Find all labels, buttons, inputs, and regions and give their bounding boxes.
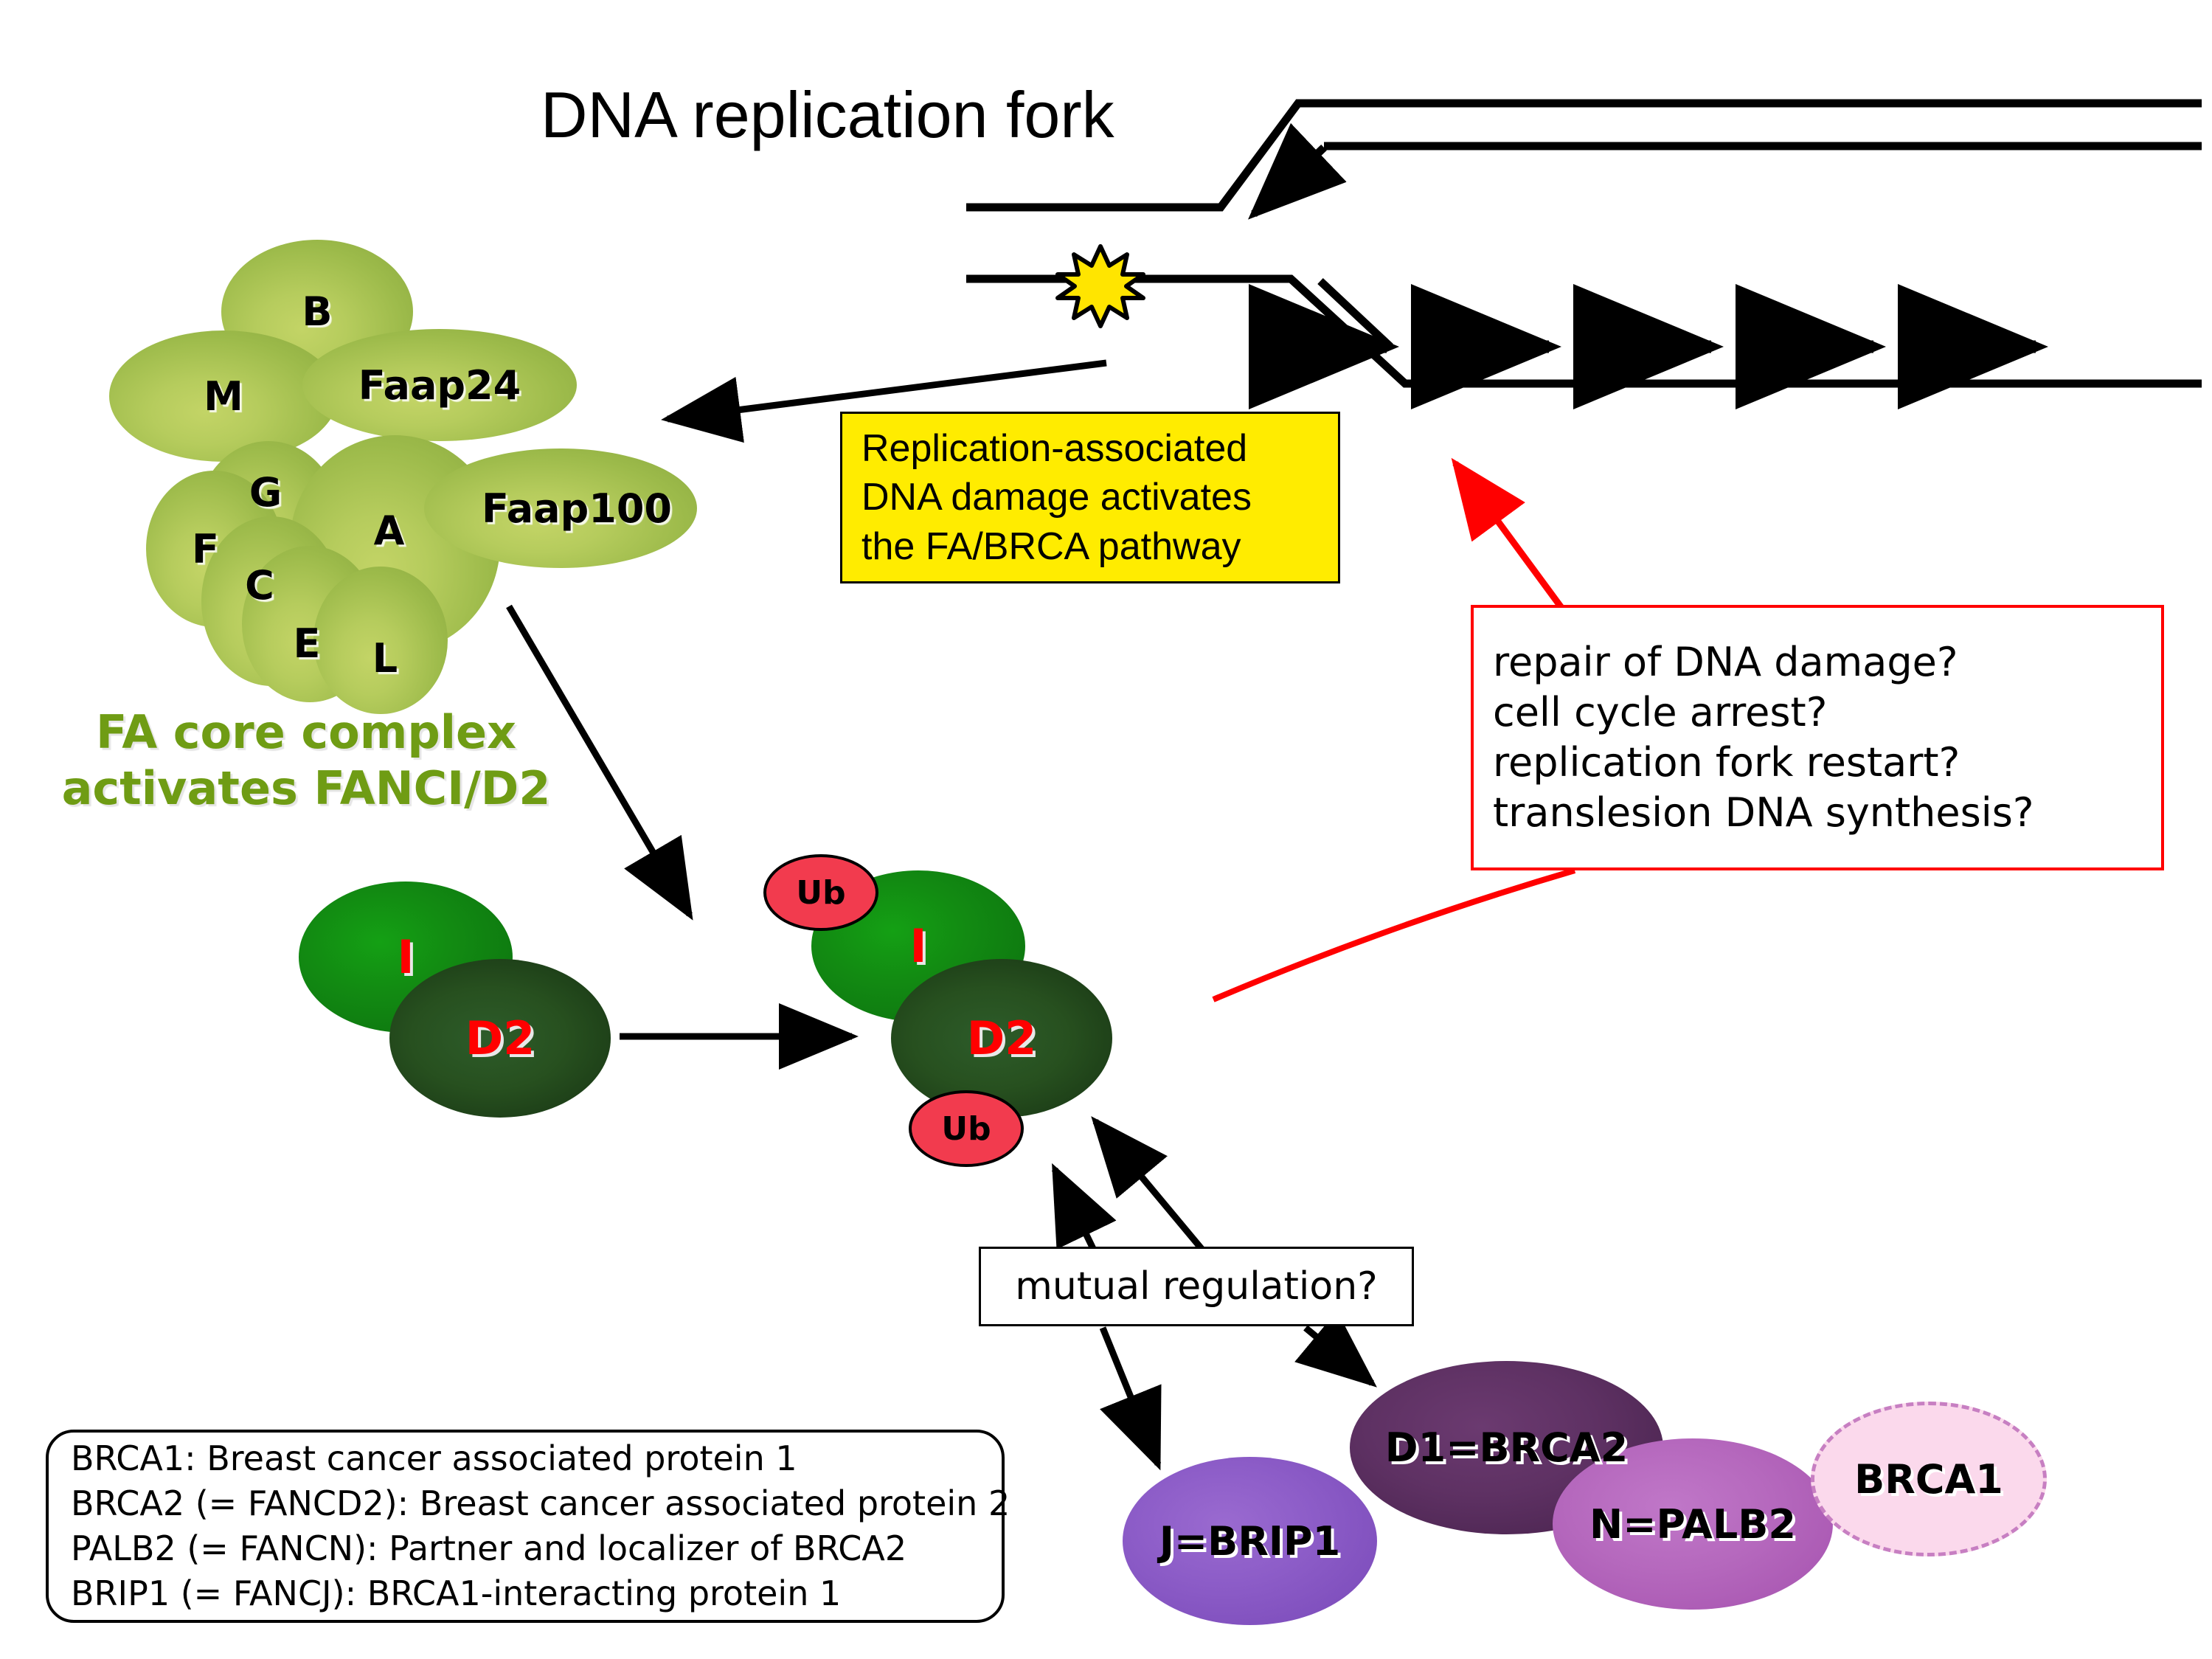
outcome-line-2: cell cycle arrest? [1493, 688, 2142, 738]
fork-to-core-arrow [668, 363, 1106, 419]
diagram-canvas: DNA replication fork B M Faap24 G F A Fa… [0, 0, 2212, 1659]
outcome-line-1: repair of DNA damage? [1493, 637, 2142, 688]
outcome-line-3: replication fork restart? [1493, 738, 2142, 788]
brca2-label: D1=BRCA2 [1385, 1424, 1628, 1471]
downstream-outcomes-note[interactable]: repair of DNA damage? cell cycle arrest?… [1471, 605, 2164, 870]
brip1-label: J=BRIP1 [1159, 1518, 1340, 1565]
outcome-line-4: translesion DNA synthesis? [1493, 788, 2142, 838]
core-subunit-fanc-l[interactable]: L [313, 567, 448, 714]
legend-line-1: BRCA1: Breast cancer associated protein … [71, 1436, 980, 1481]
core-subunit-faap24[interactable]: Faap24 [302, 329, 577, 441]
core-subunit-label: G [249, 469, 282, 516]
palb2-label: N=PALB2 [1589, 1501, 1796, 1548]
legend-line-4: BRIP1 (= FANCJ): BRCA1-interacting prote… [71, 1571, 980, 1616]
legend-box: BRCA1: Breast cancer associated protein … [46, 1430, 1005, 1623]
ubiquitin-label: Ub [941, 1110, 991, 1148]
mutual-regulation-label: mutual regulation? [1015, 1264, 1378, 1309]
brca1-label: BRCA1 [1854, 1456, 2003, 1503]
leading-strand-arrow [1254, 148, 1324, 214]
fancd2-label: D2 [465, 1011, 535, 1065]
brca1-ellipse[interactable]: BRCA1 [1811, 1402, 2047, 1556]
core-subunit-label: A [374, 508, 405, 554]
ubiquitin-tag-top[interactable]: Ub [763, 854, 878, 931]
note-line-2: DNA damage activates [861, 473, 1319, 522]
damage-star-icon [1058, 246, 1143, 326]
fanci-label: I [397, 930, 414, 984]
core-subunit-label: B [302, 288, 332, 335]
core-subunit-faap100[interactable]: Faap100 [424, 448, 697, 568]
replication-damage-note[interactable]: Replication-associated DNA damage activa… [840, 412, 1340, 583]
core-complex-caption: FA core complex activates FANCI/D2 [52, 704, 561, 816]
core-subunit-label: L [372, 635, 398, 682]
note-line-3: the FA/BRCA pathway [861, 522, 1319, 571]
core-subunit-label: C [245, 562, 274, 609]
legend-line-2: BRCA2 (= FANCD2): Breast cancer associat… [71, 1481, 980, 1526]
fancd2-label: D2 [967, 1011, 1037, 1065]
core-subunit-label: E [294, 620, 321, 667]
core-subunit-fanc-m[interactable]: M [109, 330, 338, 462]
ubiquitin-label: Ub [796, 874, 845, 912]
note-line-1: Replication-associated [861, 424, 1319, 473]
core-subunit-label: Faap100 [482, 485, 672, 532]
legend-line-3: PALB2 (= FANCN): Partner and localizer o… [71, 1526, 980, 1571]
core-subunit-label: Faap24 [358, 362, 521, 409]
core-caption-line-2: activates FANCI/D2 [62, 761, 551, 817]
core-subunit-label: M [204, 373, 243, 420]
red-note-to-id2-line [1213, 870, 1575, 1000]
mutual-regulation-note[interactable]: mutual regulation? [979, 1247, 1414, 1326]
page-title: DNA replication fork [541, 77, 1114, 153]
fancd2-ellipse-active[interactable]: D2 [891, 959, 1112, 1118]
ubiquitin-tag-bottom[interactable]: Ub [909, 1090, 1024, 1167]
fanci-label: I [909, 919, 926, 973]
core-subunit-label: F [192, 526, 219, 572]
core-caption-line-1: FA core complex [96, 704, 516, 761]
brip1-ellipse[interactable]: J=BRIP1 [1123, 1457, 1377, 1625]
fancd2-ellipse-inactive[interactable]: D2 [389, 959, 611, 1118]
